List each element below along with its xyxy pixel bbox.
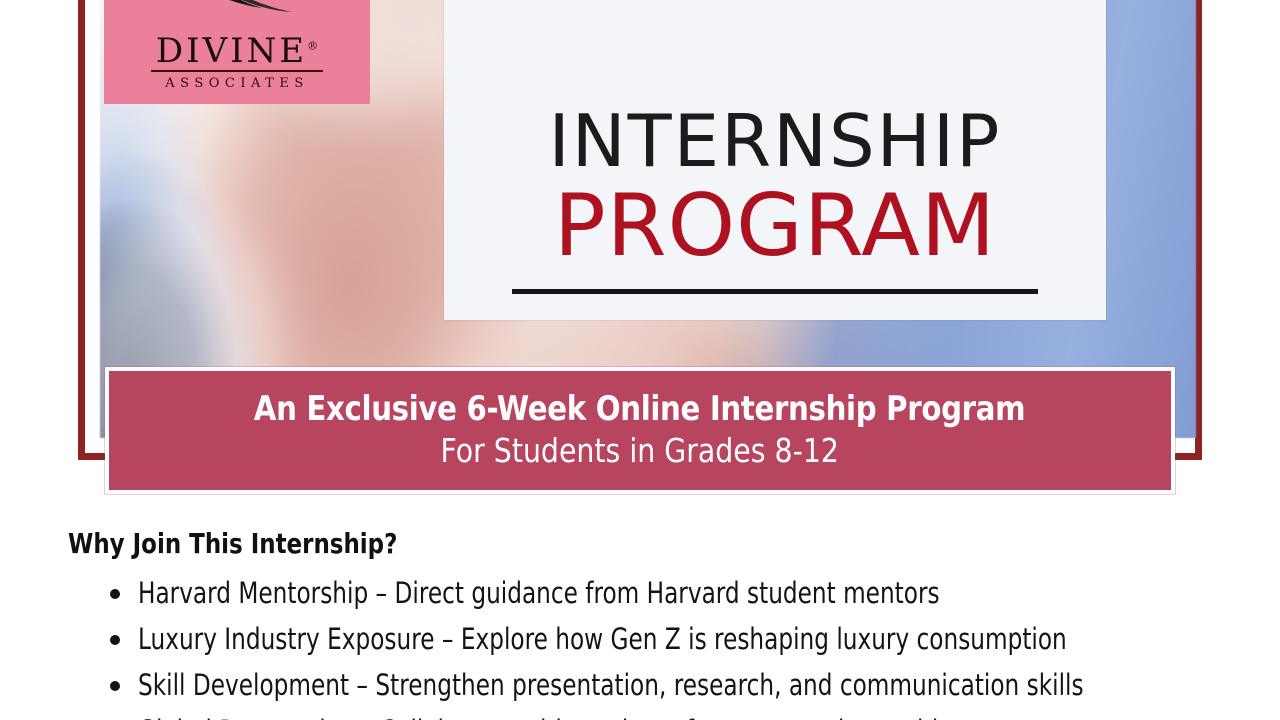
section-heading: Why Join This Internship? <box>68 528 1036 560</box>
banner-subheadline: For Students in Grades 8-12 <box>441 434 840 469</box>
logo-wordmark: DIVINE® <box>104 34 370 68</box>
benefits-list: Harvard Mentorship – Direct guidance fro… <box>68 570 1248 720</box>
logo-name: DIVINE <box>156 31 307 71</box>
body-copy-section: Why Join This Internship? Harvard Mentor… <box>68 528 1248 720</box>
registered-trademark-icon: ® <box>307 40 318 53</box>
title-internship: INTERNSHIP <box>549 106 1002 177</box>
title-card: INTERNSHIP PROGRAM <box>444 0 1106 320</box>
internship-program-poster: INTERNSHIP PROGRAM DIVINE® ASSOCIATES An… <box>0 0 1280 720</box>
list-item: Global Perspective – Collaborate with st… <box>68 708 1248 720</box>
divine-associates-logo: DIVINE® ASSOCIATES <box>104 0 370 104</box>
title-program: PROGRAM <box>554 183 996 269</box>
logo-divider <box>151 70 323 72</box>
list-item: Luxury Industry Exposure – Explore how G… <box>68 616 1248 662</box>
benefit-text: Global Perspective – Collaborate with st… <box>138 708 938 720</box>
title-underline-rule <box>512 289 1038 294</box>
list-item: Skill Development – Strengthen presentat… <box>68 662 1248 708</box>
swoosh-icon <box>142 0 332 24</box>
banner-headline: An Exclusive 6-Week Online Internship Pr… <box>254 392 1025 428</box>
list-item: Harvard Mentorship – Direct guidance fro… <box>68 570 1248 616</box>
benefit-text: Skill Development – Strengthen presentat… <box>138 662 1084 708</box>
benefit-text: Harvard Mentorship – Direct guidance fro… <box>138 570 940 616</box>
program-banner: An Exclusive 6-Week Online Internship Pr… <box>105 367 1175 494</box>
benefit-text: Luxury Industry Exposure – Explore how G… <box>138 616 1067 662</box>
logo-subtitle: ASSOCIATES <box>104 76 370 91</box>
